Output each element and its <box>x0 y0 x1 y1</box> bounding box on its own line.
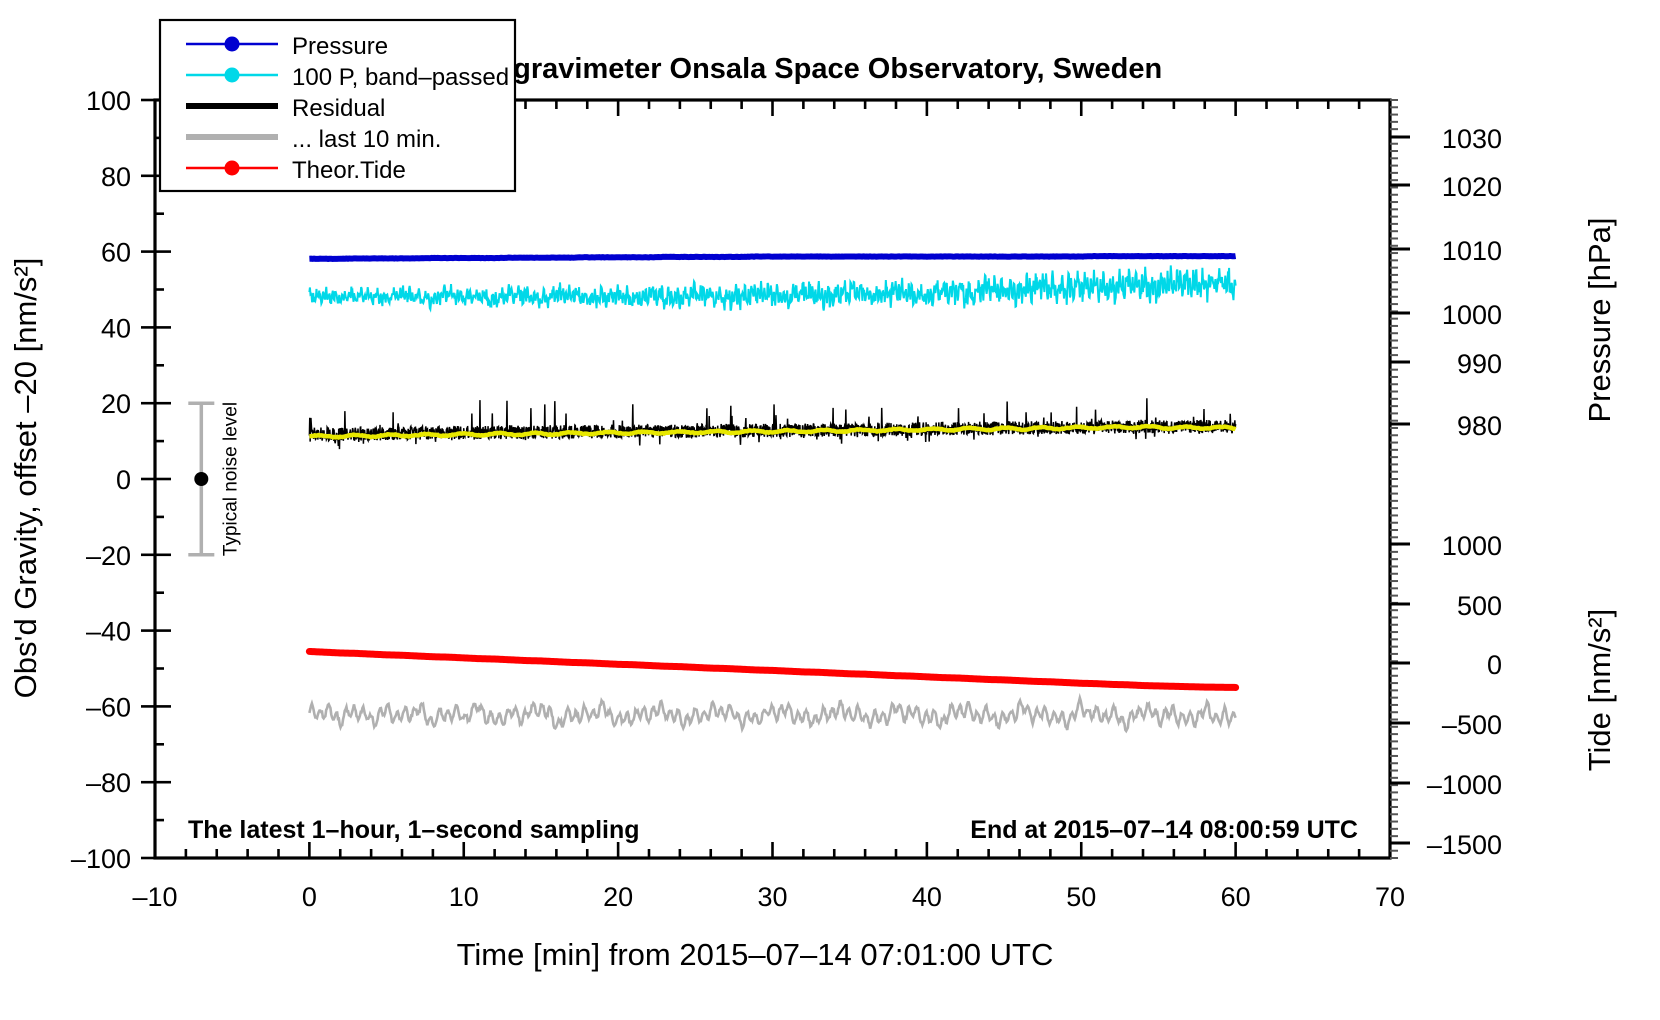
legend-label-3: ... last 10 min. <box>292 126 441 153</box>
legend-marker-1 <box>225 68 240 83</box>
x-tick-label: –10 <box>132 882 177 912</box>
legend-label-2: Residual <box>292 95 385 122</box>
legend-marker-4 <box>225 161 240 176</box>
y-tick-label: 100 <box>86 86 131 116</box>
x-axis-label: Time [min] from 2015–07–14 07:01:00 UTC <box>457 937 1054 972</box>
x-tick-label: 70 <box>1375 882 1405 912</box>
y-right-tide-label: –1000 <box>1427 770 1502 800</box>
y-right-tide-label: –500 <box>1442 710 1502 740</box>
y-tick-label: –100 <box>71 844 131 874</box>
x-tick-label: 60 <box>1221 882 1251 912</box>
y-right-pressure-label: 1030 <box>1442 124 1502 154</box>
y-right-tide-label: 1000 <box>1442 531 1502 561</box>
x-tick-label: 10 <box>449 882 479 912</box>
legend-label-4: Theor.Tide <box>292 157 406 184</box>
x-tick-label: 20 <box>603 882 633 912</box>
y-tick-label: 60 <box>101 238 131 268</box>
y-axis-right-pressure-label: Pressure [hPa] <box>1582 217 1617 422</box>
legend-marker-0 <box>225 37 240 52</box>
y-tick-label: 80 <box>101 162 131 192</box>
noise-level-label: Typical noise level <box>220 402 241 556</box>
y-right-pressure-label: 1000 <box>1442 300 1502 330</box>
gravimeter-chart: –10010203040506070 100806040200–20–40–60… <box>0 0 1660 1020</box>
legend: Pressure100 P, band–passedResidual... la… <box>160 20 515 191</box>
chart-page: –10010203040506070 100806040200–20–40–60… <box>0 0 1660 1020</box>
noise-center-dot <box>194 472 208 486</box>
y-right-pressure-label: 1010 <box>1442 236 1502 266</box>
y-tick-label: 20 <box>101 389 131 419</box>
y-axis-right-tide-label: Tide [nm/s²] <box>1582 609 1617 772</box>
legend-label-0: Pressure <box>292 33 388 60</box>
y-tick-label: 0 <box>116 465 131 495</box>
y-tick-label: –20 <box>86 541 131 571</box>
y-tick-label: 40 <box>101 313 131 343</box>
annotation-bottom-right: End at 2015–07–14 08:00:59 UTC <box>970 816 1358 844</box>
y-right-pressure-label: 990 <box>1457 349 1502 379</box>
annotation-bottom-left: The latest 1–hour, 1–second sampling <box>188 816 640 844</box>
y-right-pressure-label: 980 <box>1457 411 1502 441</box>
y-tick-label: –80 <box>86 768 131 798</box>
x-tick-label: 50 <box>1066 882 1096 912</box>
y-axis-left-label: Obs'd Gravity, offset –20 [nm/s²] <box>8 258 43 699</box>
y-tick-label: –60 <box>86 692 131 722</box>
y-tick-label: –40 <box>86 617 131 647</box>
x-tick-label: 0 <box>302 882 317 912</box>
x-tick-label: 40 <box>912 882 942 912</box>
y-right-tide-label: –1500 <box>1427 830 1502 860</box>
series-pressure <box>309 256 1235 259</box>
legend-label-1: 100 P, band–passed <box>292 64 509 91</box>
x-tick-label: 30 <box>757 882 787 912</box>
y-right-pressure-label: 1020 <box>1442 172 1502 202</box>
y-right-tide-label: 0 <box>1487 650 1502 680</box>
y-right-tide-label: 500 <box>1457 591 1502 621</box>
